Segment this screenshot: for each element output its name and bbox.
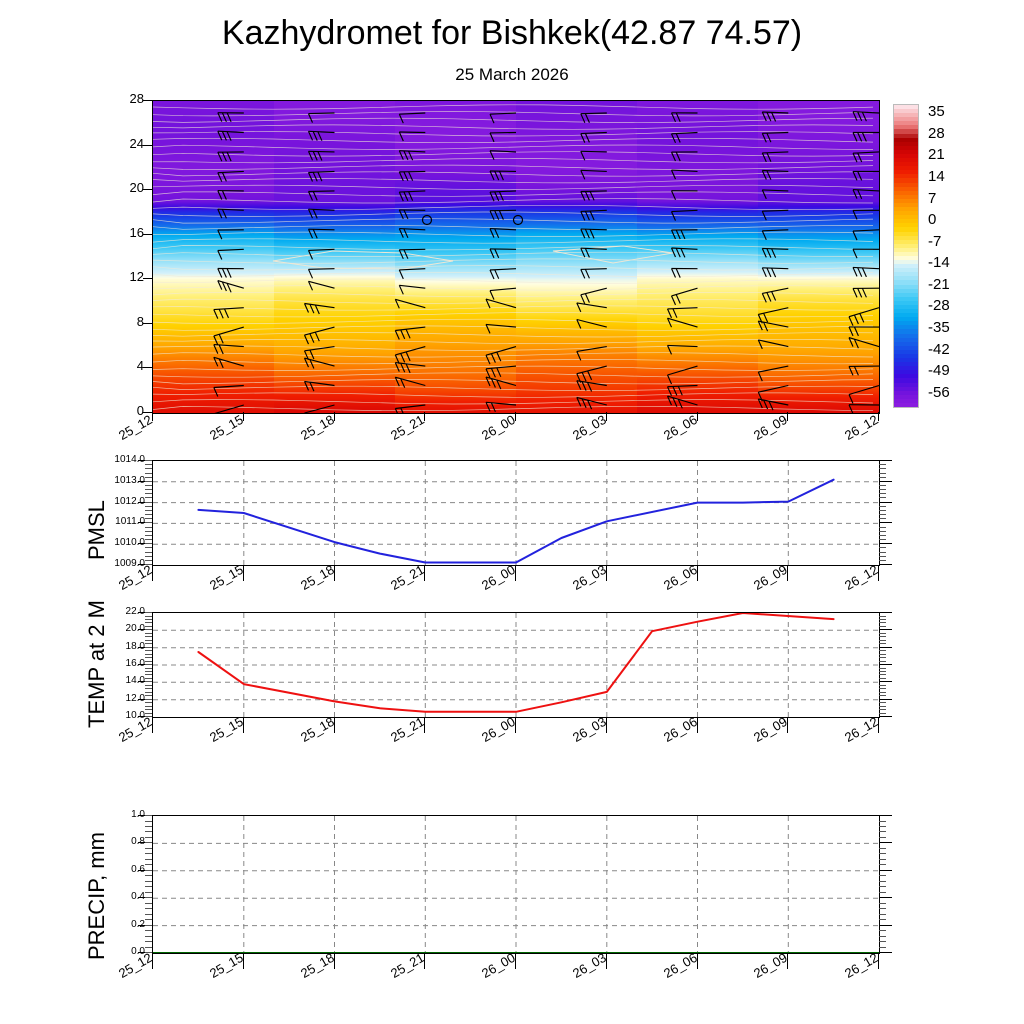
precip-x-label: 25_21 [388,950,427,981]
figure-canvas: Kazhydromet for Bishkek(42.87 74.57) 25 … [0,0,1024,1024]
precip-x-label: 25_15 [207,950,246,981]
precip-x-label: 26_12 [842,950,881,981]
precip-x-axis: 25_1225_1525_1825_2126_0026_0326_0626_09… [0,0,1024,1024]
precip-x-label: 25_12 [116,950,155,981]
precip-x-label: 26_06 [661,950,700,981]
precip-axis-title: PRECIP, mm [84,832,110,960]
precip-x-label: 25_18 [298,950,337,981]
precip-x-label: 26_00 [479,950,518,981]
precip-x-label: 26_03 [570,950,609,981]
precip-x-label: 26_09 [751,950,790,981]
